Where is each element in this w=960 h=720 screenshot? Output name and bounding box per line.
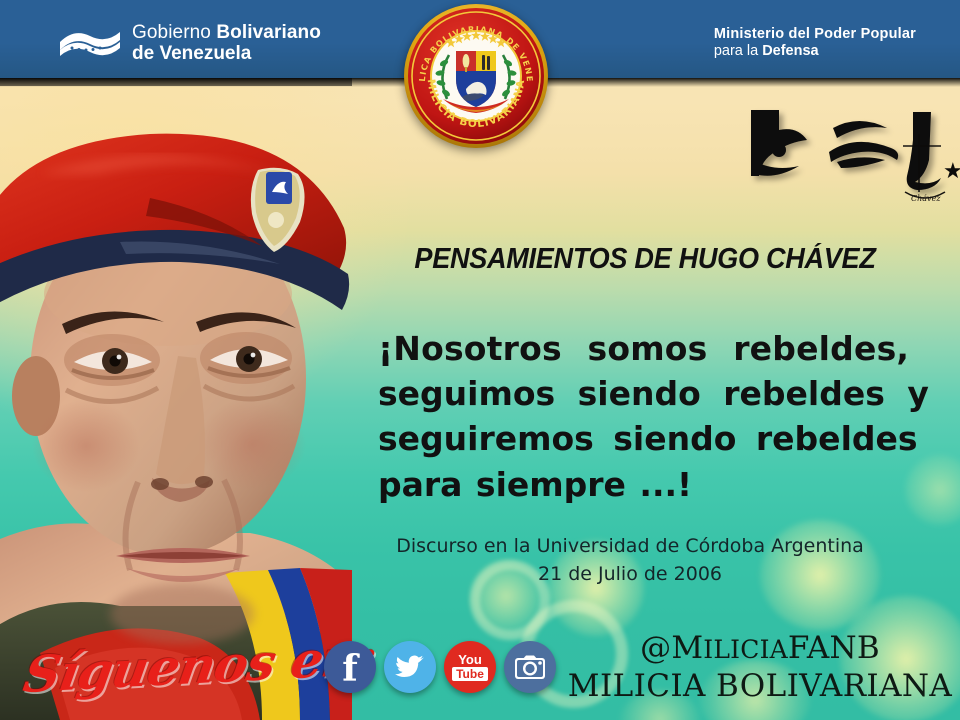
facebook-icon[interactable]: f (324, 641, 376, 693)
ministry-line1: Ministerio del Poder Popular (714, 26, 916, 43)
instagram-icon[interactable] (504, 641, 556, 693)
ministry-label: Ministerio del Poder Popular para la Def… (714, 26, 916, 60)
gov-line2: de Venezuela (132, 43, 321, 64)
twitter-bird-glyph (395, 654, 425, 680)
poster-canvas: Chávez ★ Gobierno Bolivariano de Venezue… (0, 0, 960, 720)
government-logo-text: Gobierno Bolivariano de Venezuela (132, 22, 321, 65)
youtube-tube-text: Tube (452, 667, 488, 681)
twitter-handle: @MILICIAFANB (560, 630, 960, 666)
social-icons[interactable]: f You Tube (324, 641, 556, 693)
gov-line1-bold: Bolivariano (216, 22, 321, 43)
signature-text: Chávez (911, 194, 941, 203)
quote-line: seguiremos siendo rebeldes (378, 416, 910, 461)
handle-milicia: MILICIA (671, 630, 788, 666)
quote-line: seguimos siendo rebeldes y (378, 371, 910, 416)
twitter-icon[interactable] (384, 641, 436, 693)
chavez-eyes-signature: Chávez ★ (745, 100, 960, 212)
quote-line: ¡Nosotros somos rebeldes, (378, 326, 910, 371)
source-line2: 21 de Julio de 2006 (340, 561, 920, 589)
quote-line: para siempre ...! (378, 462, 910, 507)
instagram-camera-glyph (514, 654, 546, 680)
page-title: PENSAMIENTOS DE HUGO CHÁVEZ (360, 243, 930, 276)
organization-name: MILICIA BOLIVARIANA (560, 668, 960, 704)
milicia-bolivariana-seal: REPUBLICA BOLIVARIANA DE VENEZUELA MILIC… (403, 3, 549, 149)
government-logo: Gobierno Bolivariano de Venezuela (58, 22, 321, 65)
handle-fanb: FANB (788, 630, 880, 666)
account-handle-block: @MILICIAFANB MILICIA BOLIVARIANA (560, 630, 960, 704)
venezuela-flag-logo (58, 26, 122, 60)
handle-at: @ (640, 630, 671, 666)
hugo-chavez-portrait (0, 78, 352, 720)
facebook-glyph: f (342, 651, 358, 687)
quote-text: ¡Nosotros somos rebeldes, seguimos siend… (378, 326, 910, 507)
quote-source: Discurso en la Universidad de Córdoba Ar… (340, 533, 920, 588)
ministry-line2-plain: para la (714, 43, 762, 59)
youtube-you-text: You (458, 653, 482, 666)
ministry-line2-bold: Defensa (762, 43, 818, 59)
youtube-icon[interactable]: You Tube (444, 641, 496, 693)
star-icon: ★ (943, 158, 960, 183)
source-line1: Discurso en la Universidad de Córdoba Ar… (340, 533, 920, 561)
gov-line1-plain: Gobierno (132, 22, 216, 43)
